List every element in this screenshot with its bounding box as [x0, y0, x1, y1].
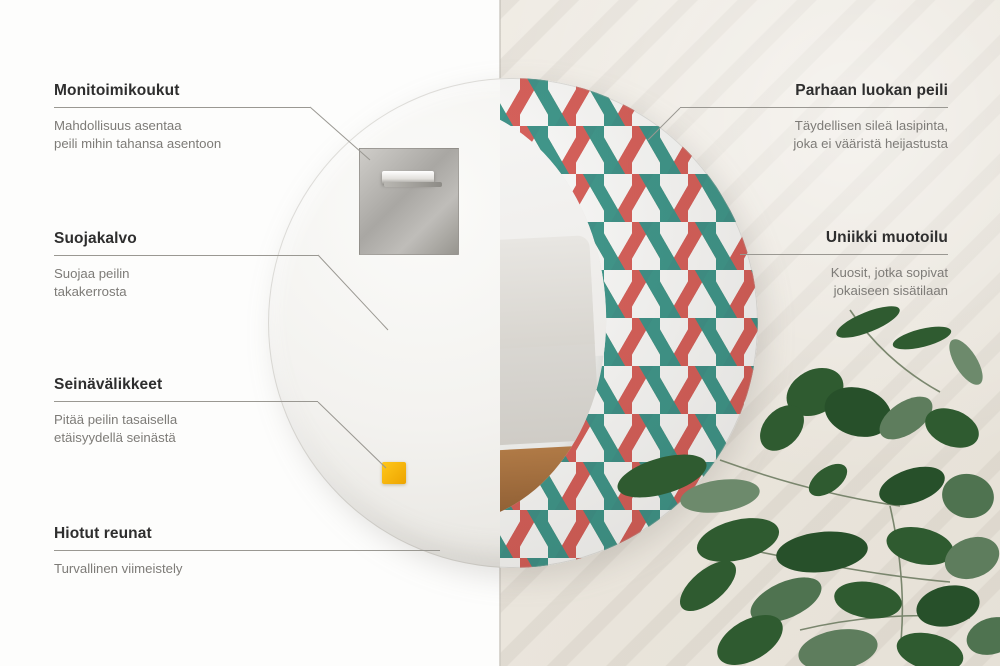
callout-wall-spacers-body: Pitää peilin tasaisella etäisyydellä sei… [54, 411, 318, 447]
callout-polished-edges-title: Hiotut reunat [54, 525, 440, 543]
callout-protective-film: Suojakalvo Suojaa peilin takakerrosta [54, 230, 318, 301]
callout-hooks-title: Monitoimikoukut [54, 82, 310, 100]
callout-unique-design-body: Kuosit, jotka sopivat jokaiseen sisätila… [740, 264, 948, 300]
callout-protective-film-body: Suojaa peilin takakerrosta [54, 265, 318, 301]
callout-unique-design-rule [740, 254, 948, 255]
callout-protective-film-rule [54, 255, 318, 256]
callout-top-class-mirror-body: Täydellisen sileä lasipinta, joka ei vää… [680, 117, 948, 153]
callout-hooks: Monitoimikoukut Mahdollisuus asentaa pei… [54, 82, 310, 153]
callout-top-class-mirror: Parhaan luokan peili Täydellisen sileä l… [680, 82, 948, 153]
callout-unique-design-title: Uniikki muotoilu [740, 229, 948, 247]
callout-polished-edges: Hiotut reunat Turvallinen viimeistely [54, 525, 440, 578]
callout-hooks-body: Mahdollisuus asentaa peili mihin tahansa… [54, 117, 310, 153]
callout-hooks-rule [54, 107, 310, 108]
callout-unique-design: Uniikki muotoilu Kuosit, jotka sopivat j… [740, 229, 948, 300]
callout-wall-spacers-title: Seinävälikkeet [54, 376, 318, 394]
callout-wall-spacers: Seinävälikkeet Pitää peilin tasaisella e… [54, 376, 318, 447]
callout-protective-film-title: Suojakalvo [54, 230, 318, 248]
hanging-hook-plate [359, 148, 459, 255]
hook-slot-shadow [384, 182, 442, 187]
callout-top-class-mirror-title: Parhaan luokan peili [680, 82, 948, 100]
callout-polished-edges-body: Turvallinen viimeistely [54, 560, 440, 578]
plant-foliage [600, 300, 1000, 666]
wall-spacer-block [382, 462, 406, 484]
callout-wall-spacers-rule [54, 401, 318, 402]
callout-polished-edges-rule [54, 550, 440, 551]
infographic-canvas: Monitoimikoukut Mahdollisuus asentaa pei… [0, 0, 1000, 666]
callout-top-class-mirror-rule [680, 107, 948, 108]
plant-leaves-icon [600, 300, 1000, 666]
